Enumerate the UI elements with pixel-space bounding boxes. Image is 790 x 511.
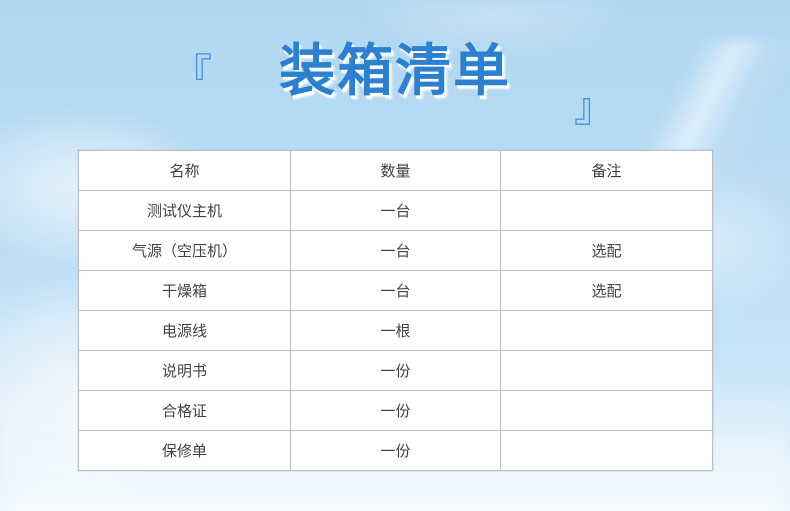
cell-name: 说明书	[79, 351, 291, 391]
packing-list-table: 名称 数量 备注 测试仪主机一台气源（空压机）一台选配干燥箱一台选配电源线一根说…	[78, 150, 713, 471]
column-header-remark: 备注	[501, 151, 713, 191]
table-row: 说明书一份	[79, 351, 713, 391]
table-body: 测试仪主机一台气源（空压机）一台选配干燥箱一台选配电源线一根说明书一份合格证一份…	[79, 191, 713, 471]
cell-quantity: 一台	[291, 191, 501, 231]
cell-remark: 选配	[501, 271, 713, 311]
table-row: 电源线一根	[79, 311, 713, 351]
cell-name: 干燥箱	[79, 271, 291, 311]
cell-remark	[501, 391, 713, 431]
cell-name: 气源（空压机）	[79, 231, 291, 271]
page-title: 装箱清单	[0, 42, 790, 101]
cell-name: 合格证	[79, 391, 291, 431]
cell-remark	[501, 351, 713, 391]
column-header-quantity: 数量	[291, 151, 501, 191]
column-header-name: 名称	[79, 151, 291, 191]
bracket-close-icon: 』	[574, 88, 614, 128]
cell-quantity: 一根	[291, 311, 501, 351]
cell-quantity: 一份	[291, 391, 501, 431]
packing-list-table-container: 名称 数量 备注 测试仪主机一台气源（空压机）一台选配干燥箱一台选配电源线一根说…	[78, 150, 712, 471]
cell-name: 测试仪主机	[79, 191, 291, 231]
table-row: 保修单一份	[79, 431, 713, 471]
cell-remark	[501, 431, 713, 471]
table-header-row: 名称 数量 备注	[79, 151, 713, 191]
cell-quantity: 一台	[291, 231, 501, 271]
cell-name: 保修单	[79, 431, 291, 471]
cell-remark	[501, 311, 713, 351]
cell-remark: 选配	[501, 231, 713, 271]
cell-name: 电源线	[79, 311, 291, 351]
cell-quantity: 一份	[291, 431, 501, 471]
cell-quantity: 一份	[291, 351, 501, 391]
table-row: 气源（空压机）一台选配	[79, 231, 713, 271]
title-area: 『 装箱清单 』	[0, 26, 790, 134]
table-row: 测试仪主机一台	[79, 191, 713, 231]
cell-quantity: 一台	[291, 271, 501, 311]
cell-remark	[501, 191, 713, 231]
table-row: 干燥箱一台选配	[79, 271, 713, 311]
table-row: 合格证一份	[79, 391, 713, 431]
